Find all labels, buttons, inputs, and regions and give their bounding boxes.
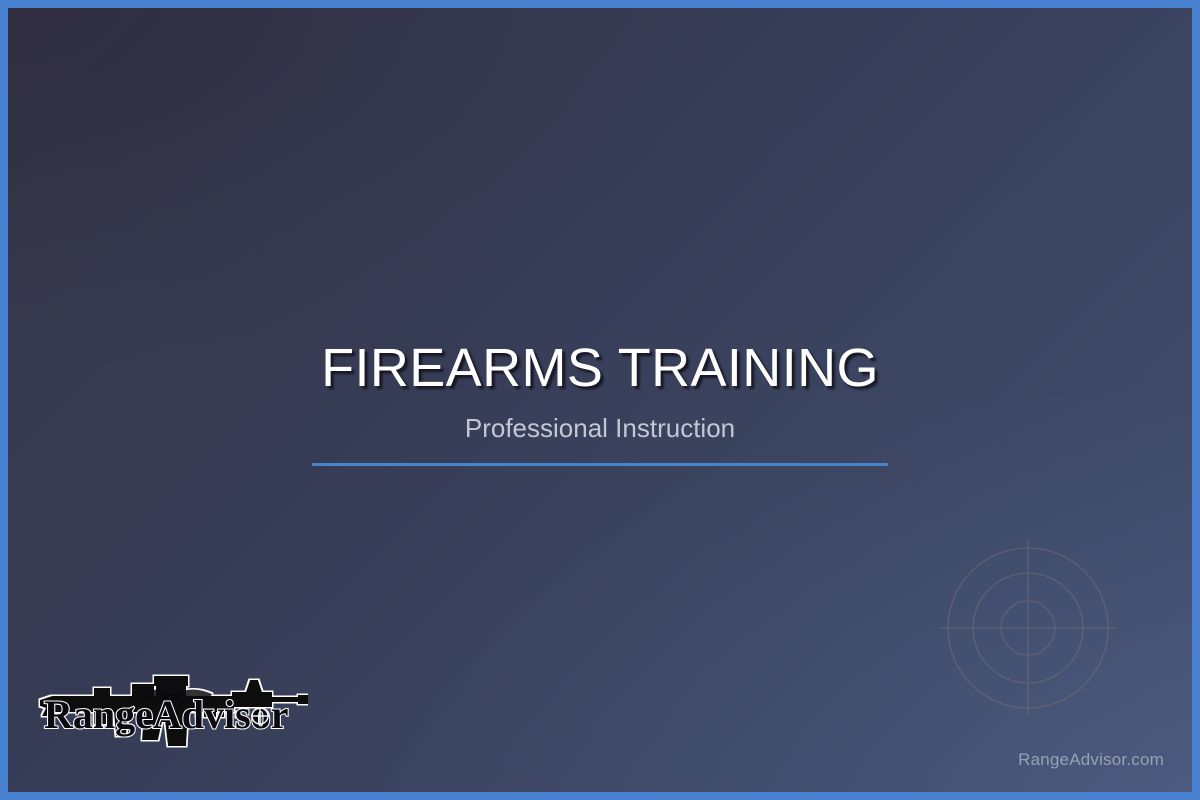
target-reticle-icon [940,540,1116,716]
slide-frame: FIREARMS TRAINING Professional Instructi… [0,0,1200,800]
page-title: FIREARMS TRAINING [8,340,1192,397]
page-subtitle: Professional Instruction [8,413,1192,444]
rifle-logo-icon: RangeAdvisor [36,666,308,754]
accent-divider [312,463,888,466]
footer-website: RangeAdvisor.com [1018,750,1164,770]
title-block: FIREARMS TRAINING Professional Instructi… [8,340,1192,466]
slide-canvas: FIREARMS TRAINING Professional Instructi… [8,8,1192,792]
